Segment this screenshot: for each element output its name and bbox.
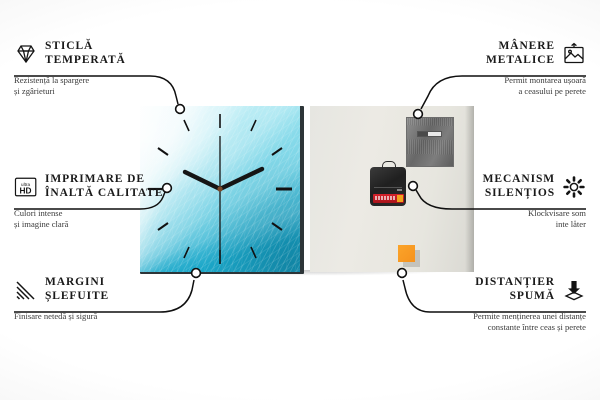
hanger-slot — [417, 131, 442, 137]
feature-title: STICLĂ TEMPERATĂ — [45, 40, 126, 67]
feature-tempered-glass[interactable]: STICLĂ TEMPERATĂ Rezistență la spargere … — [14, 40, 164, 96]
feature-metal-handles[interactable]: MÂNERE METALICE Permit montarea ușoară a… — [436, 40, 586, 96]
feature-subtitle: Permite menținerea unei distanțe constan… — [424, 311, 586, 332]
feature-subtitle: Klockvisare som inte låter — [436, 208, 586, 229]
feature-subtitle: Finisare netedă și sigură — [14, 311, 166, 322]
diamond-icon — [14, 42, 38, 66]
feature-hd-print[interactable]: ultra HD IMPRIMARE DE ÎNALTĂ CALITATE Cu… — [14, 173, 166, 229]
feature-header: MÂNERE METALICE — [436, 40, 586, 67]
clock-mechanism — [370, 167, 406, 206]
polished-edges-icon — [14, 278, 38, 302]
feature-subtitle: Permit montarea ușoară a ceasului pe per… — [436, 75, 586, 96]
infographic-canvas: STICLĂ TEMPERATĂ Rezistență la spargere … — [0, 0, 600, 400]
feature-header: DISTANȚIER SPUMĂ — [424, 276, 586, 303]
feature-title: MECANISM SILENȚIOS — [483, 173, 555, 200]
product-image — [140, 106, 474, 272]
feature-subtitle: Culori intense și imagine clară — [14, 208, 166, 229]
metal-hanger — [406, 117, 454, 167]
feature-silent-mechanism[interactable]: MECANISM SILENȚIOS Klockvisare som inte … — [436, 173, 586, 229]
down-arrow-stack-icon — [562, 278, 586, 302]
gear-icon — [562, 175, 586, 199]
feature-title: MARGINI ȘLEFUITE — [45, 276, 109, 303]
feature-header: STICLĂ TEMPERATĂ — [14, 40, 164, 67]
feature-polished-edges[interactable]: MARGINI ȘLEFUITE Finisare netedă și sigu… — [14, 276, 166, 322]
feature-foam-spacer[interactable]: DISTANȚIER SPUMĂ Permite menținerea unei… — [424, 276, 586, 332]
feature-title: IMPRIMARE DE ÎNALTĂ CALITATE — [45, 173, 163, 200]
foam-spacer — [398, 245, 415, 262]
mechanism-seam — [374, 187, 402, 188]
battery-label — [375, 196, 395, 200]
feature-subtitle: Rezistență la spargere și zgârieturi — [14, 75, 164, 96]
feature-title: MÂNERE METALICE — [486, 40, 555, 67]
mechanism-hook — [382, 161, 396, 170]
mechanism-marking — [397, 189, 402, 191]
feature-title: DISTANȚIER SPUMĂ — [475, 276, 555, 303]
svg-text:HD: HD — [20, 185, 32, 195]
feature-header: ultra HD IMPRIMARE DE ÎNALTĂ CALITATE — [14, 173, 166, 200]
picture-frame-icon — [562, 42, 586, 66]
battery — [373, 194, 404, 203]
ultra-hd-icon: ultra HD — [14, 175, 38, 199]
feature-header: MECANISM SILENȚIOS — [436, 173, 586, 200]
feature-header: MARGINI ȘLEFUITE — [14, 276, 166, 303]
